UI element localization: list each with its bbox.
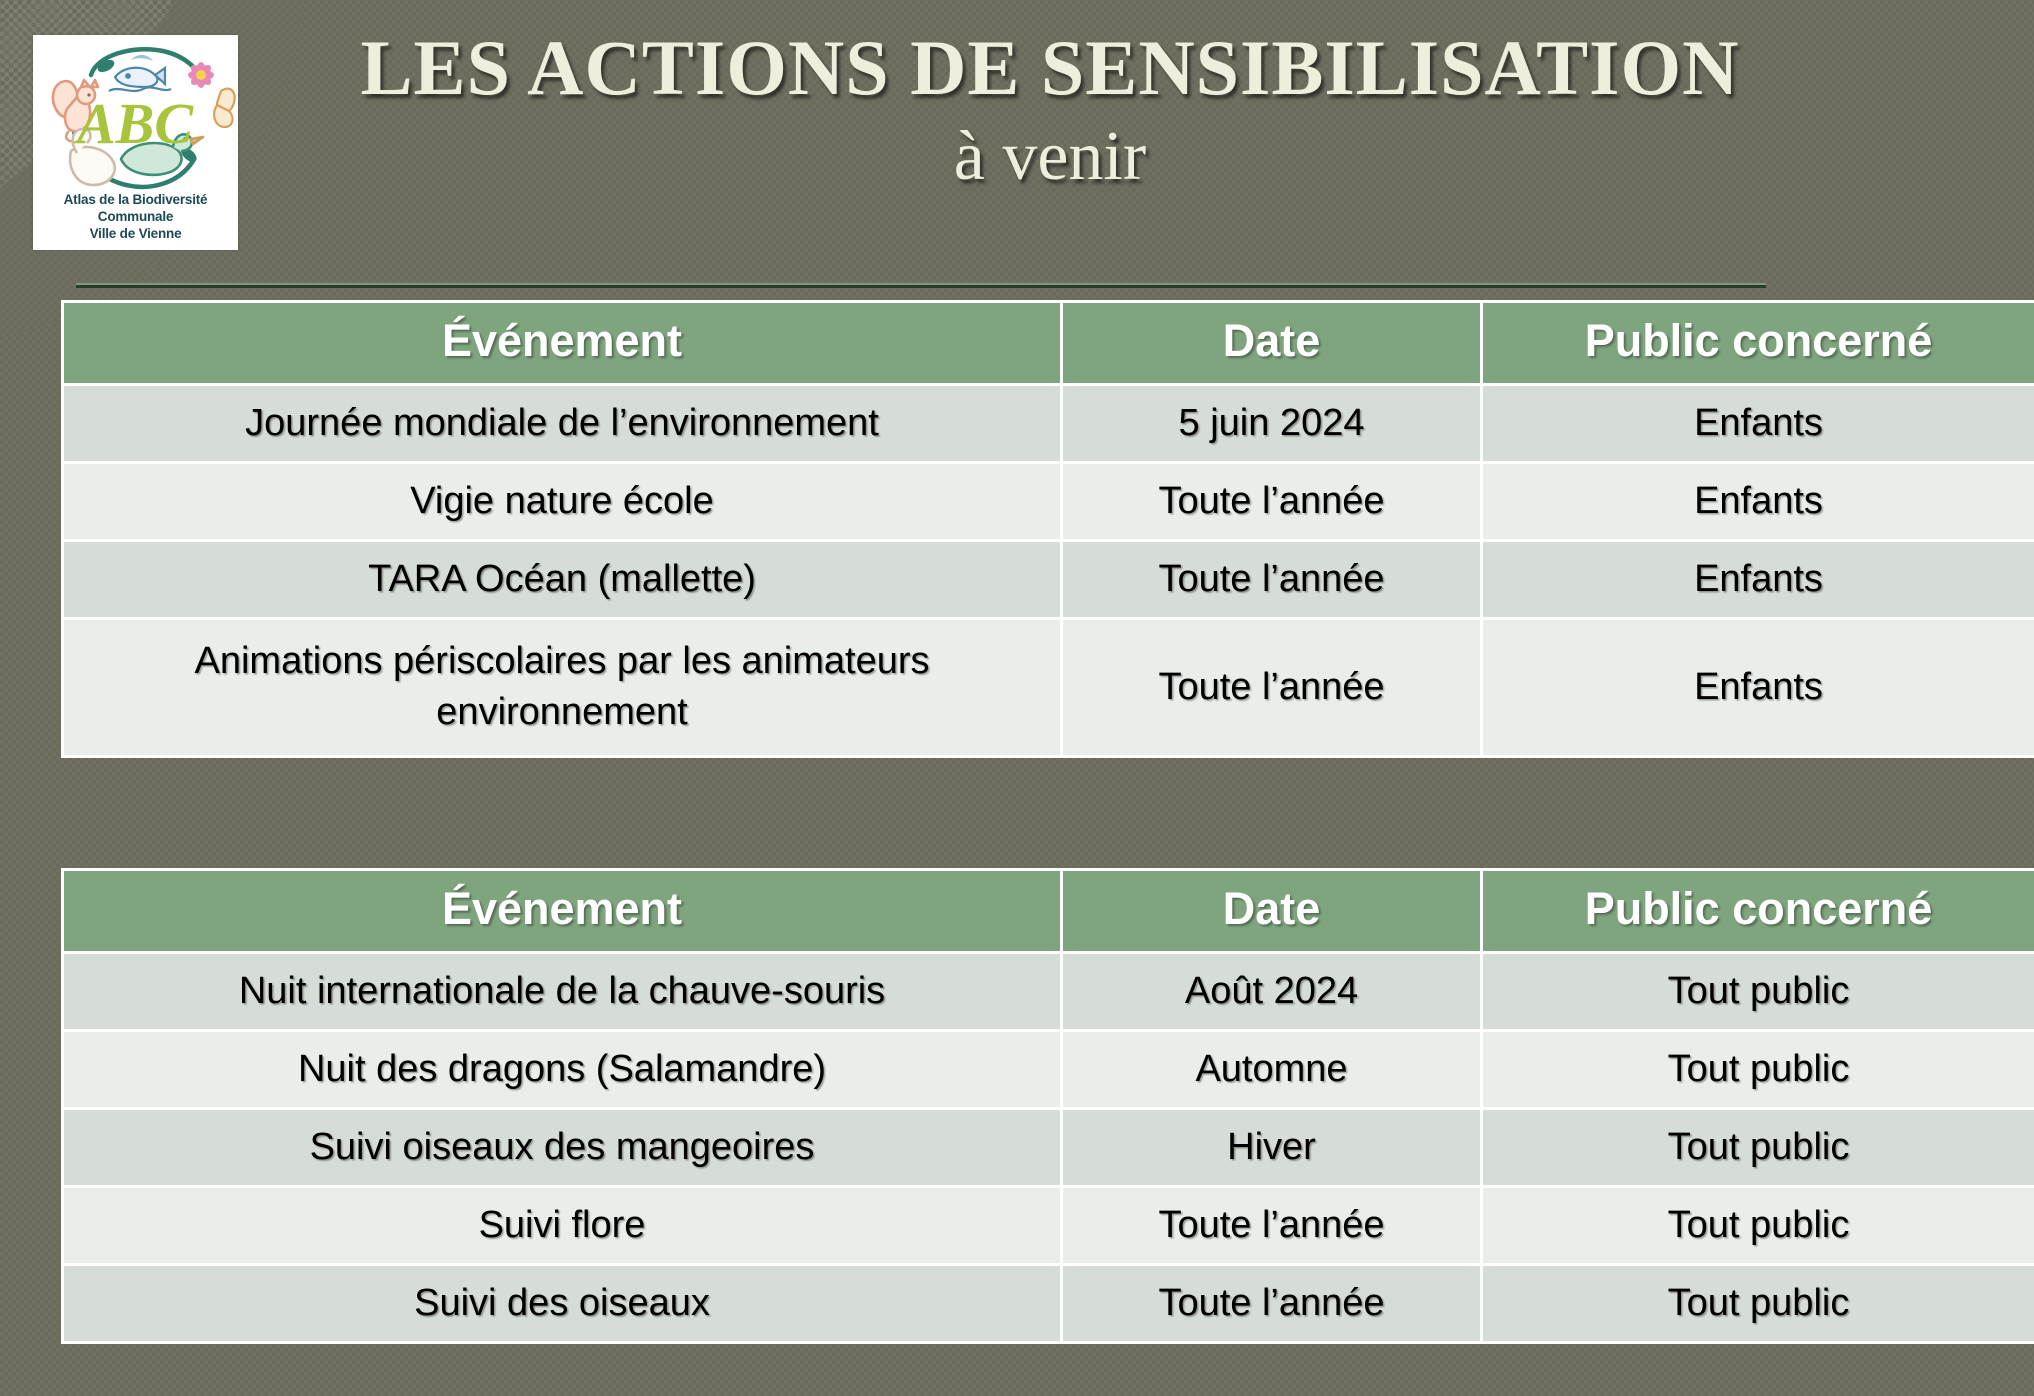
cell-event: Nuit des dragons (Salamandre) [64,1032,1060,1107]
cell-event: TARA Océan (mallette) [64,542,1060,617]
table-row: Journée mondiale de l’environnement 5 ju… [64,386,2034,461]
column-header-date: Date [1063,303,1480,383]
cell-date: Toute l’année [1063,542,1480,617]
cell-event: Animations périscolaires par les animate… [64,620,1060,755]
cell-date: Août 2024 [1063,954,1480,1029]
column-header-public: Public concerné [1483,871,2034,951]
abc-logo-caption-line1: Atlas de la Biodiversité Communale [33,191,238,225]
cell-event: Suivi flore [64,1188,1060,1263]
column-header-event: Événement [64,871,1060,951]
cell-date: 5 juin 2024 [1063,386,1480,461]
abc-logo: ABC Atlas de la Biodiversité Communale V… [33,35,238,250]
abc-logo-caption: Atlas de la Biodiversité Communale Ville… [33,191,238,242]
table-row: Nuit des dragons (Salamandre) Automne To… [64,1032,2034,1107]
slide-title-line2: à venir [250,114,1850,200]
table-header-row: Événement Date Public concerné [64,303,2034,383]
cell-event: Vigie nature école [64,464,1060,539]
column-header-event: Événement [64,303,1060,383]
cell-event: Suivi des oiseaux [64,1266,1060,1341]
cell-public: Enfants [1483,542,2034,617]
table-upcoming-public: Événement Date Public concerné Nuit inte… [61,868,2034,1344]
cell-public: Enfants [1483,620,2034,755]
column-header-public: Public concerné [1483,303,2034,383]
table-row: Vigie nature école Toute l’année Enfants [64,464,2034,539]
table-row: Suivi flore Toute l’année Tout public [64,1188,2034,1263]
cell-date: Hiver [1063,1110,1480,1185]
table-row: Animations périscolaires par les animate… [64,620,2034,755]
cell-date: Toute l’année [1063,464,1480,539]
cell-event: Journée mondiale de l’environnement [64,386,1060,461]
table-header-row: Événement Date Public concerné [64,871,2034,951]
svg-text:ABC: ABC [74,91,194,156]
cell-public: Tout public [1483,1188,2034,1263]
cell-date: Toute l’année [1063,620,1480,755]
cell-event: Nuit internationale de la chauve-souris [64,954,1060,1029]
cell-date: Automne [1063,1032,1480,1107]
table-row: Suivi des oiseaux Toute l’année Tout pub… [64,1266,2034,1341]
table-row: Suivi oiseaux des mangeoires Hiver Tout … [64,1110,2034,1185]
table-row: Nuit internationale de la chauve-souris … [64,954,2034,1029]
slide-title-line1: LES ACTIONS DE SENSIBILISATION [250,22,1850,114]
column-header-date: Date [1063,871,1480,951]
abc-logo-caption-line2: Ville de Vienne [33,225,238,242]
slide-canvas: ABC Atlas de la Biodiversité Communale V… [0,0,2034,1396]
cell-public: Enfants [1483,464,2034,539]
table-row: TARA Océan (mallette) Toute l’année Enfa… [64,542,2034,617]
abc-logo-illustration: ABC [33,35,238,207]
cell-public: Tout public [1483,1110,2034,1185]
slide-title: LES ACTIONS DE SENSIBILISATION à venir [250,22,1850,200]
cell-public: Tout public [1483,1032,2034,1107]
cell-event: Suivi oiseaux des mangeoires [64,1110,1060,1185]
table-upcoming-kids: Événement Date Public concerné Journée m… [61,300,2034,758]
title-divider-rule [76,283,1766,288]
cell-public: Tout public [1483,954,2034,1029]
cell-public: Tout public [1483,1266,2034,1341]
cell-date: Toute l’année [1063,1188,1480,1263]
cell-date: Toute l’année [1063,1266,1480,1341]
cell-public: Enfants [1483,386,2034,461]
